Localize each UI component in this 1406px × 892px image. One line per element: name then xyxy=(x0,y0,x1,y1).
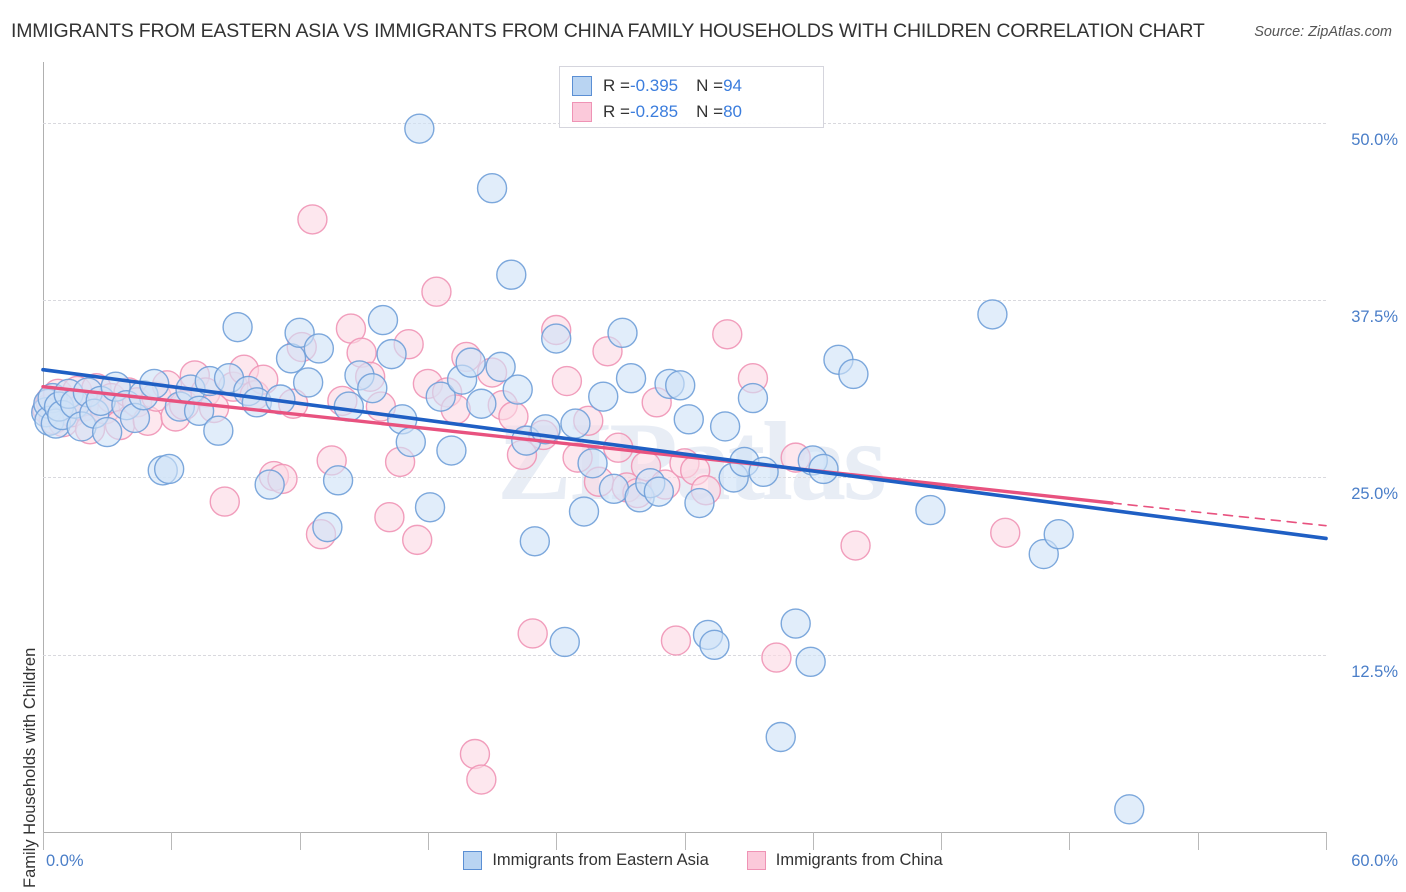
data-point-eastern-asia xyxy=(48,401,77,430)
data-point-eastern-asia xyxy=(512,426,541,455)
data-point-china xyxy=(452,342,481,371)
r-label-blue: R = xyxy=(603,76,630,96)
data-point-eastern-asia xyxy=(608,318,637,347)
data-point-eastern-asia xyxy=(204,416,233,445)
trend-line-china-extrapolated xyxy=(1112,503,1326,526)
data-point-eastern-asia xyxy=(195,367,224,396)
data-point-china xyxy=(632,452,661,481)
data-point-eastern-asia xyxy=(437,436,466,465)
y-tick-label: 12.5% xyxy=(1351,663,1398,682)
scatter-plot-canvas xyxy=(0,0,1406,892)
trend-line-china xyxy=(43,387,1112,503)
data-point-eastern-asia xyxy=(388,405,417,434)
y-tick-label: 50.0% xyxy=(1351,131,1398,150)
data-point-eastern-asia xyxy=(617,364,646,393)
data-point-china xyxy=(563,443,592,472)
data-point-eastern-asia xyxy=(916,496,945,525)
series-swatch-eastern-asia xyxy=(463,851,482,870)
x-tick xyxy=(1326,832,1327,850)
data-point-eastern-asia xyxy=(655,369,684,398)
data-point-china xyxy=(403,525,432,554)
data-point-china xyxy=(52,389,81,418)
data-point-eastern-asia xyxy=(396,428,425,457)
data-point-china xyxy=(200,394,229,423)
data-point-eastern-asia xyxy=(32,398,61,427)
data-point-eastern-asia xyxy=(223,313,252,342)
data-point-eastern-asia xyxy=(625,483,654,512)
data-point-china xyxy=(97,384,126,413)
r-value-pink: -0.285 xyxy=(630,102,678,122)
data-point-eastern-asia xyxy=(711,412,740,441)
n-label-blue: N = xyxy=(696,76,723,96)
data-point-china xyxy=(33,395,62,424)
data-point-china xyxy=(240,381,269,410)
gridline xyxy=(43,655,1326,656)
y-tick-label: 37.5% xyxy=(1351,308,1398,327)
data-point-eastern-asia xyxy=(45,392,74,421)
data-point-china xyxy=(422,277,451,306)
page-title: IMMIGRANTS FROM EASTERN ASIA VS IMMIGRAN… xyxy=(11,20,1205,43)
data-point-eastern-asia xyxy=(694,620,723,649)
source-label: Source: ZipAtlas.com xyxy=(1254,24,1392,40)
data-point-eastern-asia xyxy=(730,447,759,476)
data-point-china xyxy=(268,464,297,493)
data-point-china xyxy=(49,408,78,437)
data-point-china xyxy=(738,364,767,393)
x-tick xyxy=(813,832,814,850)
data-point-china xyxy=(76,415,105,444)
data-point-eastern-asia xyxy=(140,369,169,398)
data-point-china xyxy=(661,626,690,655)
r-value-blue: -0.395 xyxy=(630,76,678,96)
data-point-eastern-asia xyxy=(599,474,628,503)
data-point-china xyxy=(306,520,335,549)
data-point-china xyxy=(259,462,288,491)
x-tick xyxy=(685,832,686,850)
data-point-china xyxy=(153,371,182,400)
data-point-china xyxy=(991,518,1020,547)
data-point-eastern-asia xyxy=(368,306,397,335)
data-point-eastern-asia xyxy=(589,382,618,411)
data-point-china xyxy=(161,402,190,431)
watermark: ZIPatlas xyxy=(497,398,884,527)
data-point-eastern-asia xyxy=(285,318,314,347)
data-point-china xyxy=(552,367,581,396)
data-point-eastern-asia xyxy=(497,260,526,289)
data-point-china xyxy=(191,378,220,407)
data-point-eastern-asia xyxy=(685,489,714,518)
correlation-legend-row: R = -0.395 N = 94 xyxy=(572,73,811,99)
data-point-eastern-asia xyxy=(1115,795,1144,824)
data-point-china xyxy=(356,362,385,391)
data-point-eastern-asia xyxy=(520,527,549,556)
data-point-eastern-asia xyxy=(809,454,838,483)
data-point-eastern-asia xyxy=(839,359,868,388)
data-point-eastern-asia xyxy=(377,340,406,369)
data-point-eastern-asia xyxy=(542,324,571,353)
data-point-eastern-asia xyxy=(54,379,83,408)
series-legend-item-eastern-asia[interactable]: Immigrants from Eastern Asia xyxy=(463,851,708,870)
data-point-china xyxy=(433,378,462,407)
data-point-china xyxy=(542,316,571,345)
data-point-china xyxy=(781,443,810,472)
data-point-eastern-asia xyxy=(467,389,496,418)
trend-line-eastern-asia xyxy=(43,370,1326,539)
data-point-eastern-asia xyxy=(569,497,598,526)
data-point-china xyxy=(133,406,162,435)
x-tick xyxy=(171,832,172,850)
data-point-china xyxy=(249,365,278,394)
data-point-china xyxy=(170,391,199,420)
data-point-eastern-asia xyxy=(345,361,374,390)
data-point-eastern-asia xyxy=(313,513,342,542)
data-point-eastern-asia xyxy=(61,389,90,418)
data-point-eastern-asia xyxy=(578,449,607,478)
data-point-china xyxy=(681,456,710,485)
data-point-china xyxy=(762,643,791,672)
data-point-china xyxy=(529,420,558,449)
x-tick xyxy=(428,832,429,850)
data-point-eastern-asia xyxy=(86,386,115,415)
data-point-eastern-asia xyxy=(34,389,63,418)
data-point-eastern-asia xyxy=(176,375,205,404)
data-point-eastern-asia xyxy=(155,454,184,483)
data-point-eastern-asia xyxy=(358,374,387,403)
data-point-eastern-asia xyxy=(67,412,96,441)
data-point-eastern-asia xyxy=(486,352,515,381)
data-point-eastern-asia xyxy=(255,470,284,499)
data-point-china xyxy=(69,392,98,421)
gridline xyxy=(43,477,1326,478)
data-point-eastern-asia xyxy=(824,345,853,374)
data-point-eastern-asia xyxy=(448,365,477,394)
data-point-eastern-asia xyxy=(405,114,434,143)
data-point-china xyxy=(488,391,517,420)
data-point-china xyxy=(180,361,209,390)
data-point-china xyxy=(279,389,308,418)
data-point-eastern-asia xyxy=(503,375,532,404)
series-swatch-china xyxy=(747,851,766,870)
series-label-china: Immigrants from China xyxy=(776,851,943,870)
data-point-eastern-asia xyxy=(129,381,158,410)
data-point-china xyxy=(105,411,134,440)
data-point-eastern-asia xyxy=(550,627,579,656)
data-point-eastern-asia xyxy=(644,477,673,506)
data-point-china xyxy=(593,337,622,366)
data-point-eastern-asia xyxy=(334,392,363,421)
gridline xyxy=(43,300,1326,301)
data-point-eastern-asia xyxy=(165,392,194,421)
data-point-china xyxy=(91,395,120,424)
r-label-pink: R = xyxy=(603,102,630,122)
data-point-china xyxy=(63,376,92,405)
x-tick xyxy=(556,832,557,850)
data-point-china xyxy=(691,476,720,505)
data-point-china xyxy=(114,378,143,407)
data-point-china xyxy=(230,355,259,384)
data-point-china xyxy=(604,433,633,462)
legend-swatch-china xyxy=(572,102,592,122)
data-point-china xyxy=(518,619,547,648)
data-point-china xyxy=(478,358,507,387)
data-point-eastern-asia xyxy=(101,372,130,401)
x-tick xyxy=(1069,832,1070,850)
data-point-eastern-asia xyxy=(416,493,445,522)
data-point-china xyxy=(142,382,171,411)
x-tick xyxy=(300,832,301,850)
data-point-eastern-asia xyxy=(798,446,827,475)
data-point-eastern-asia xyxy=(456,348,485,377)
legend-swatch-eastern-asia xyxy=(572,76,592,96)
data-point-eastern-asia xyxy=(294,368,323,397)
data-point-eastern-asia xyxy=(766,722,795,751)
data-point-china xyxy=(123,388,152,417)
data-point-china xyxy=(375,503,404,532)
data-point-eastern-asia xyxy=(781,609,810,638)
correlation-legend-row: R = -0.285 N = 80 xyxy=(572,99,811,125)
data-point-china xyxy=(670,449,699,478)
data-point-china xyxy=(713,320,742,349)
correlation-legend: R = -0.395 N = 94 R = -0.285 N = 80 xyxy=(559,66,824,128)
data-point-china xyxy=(623,479,652,508)
data-point-china xyxy=(336,314,365,343)
y-axis-line xyxy=(43,62,44,832)
data-point-china xyxy=(287,333,316,362)
data-point-eastern-asia xyxy=(561,409,590,438)
n-value-blue: 94 xyxy=(723,76,742,96)
data-point-eastern-asia xyxy=(73,378,102,407)
data-point-eastern-asia xyxy=(636,469,665,498)
data-point-eastern-asia xyxy=(148,456,177,485)
data-point-china xyxy=(210,487,239,516)
data-point-eastern-asia xyxy=(112,391,141,420)
data-point-eastern-asia xyxy=(324,466,353,495)
data-point-china xyxy=(651,470,680,499)
x-tick xyxy=(43,832,44,850)
data-point-china xyxy=(219,372,248,401)
data-point-eastern-asia xyxy=(93,418,122,447)
data-point-eastern-asia xyxy=(234,376,263,405)
x-tick xyxy=(941,832,942,850)
data-point-eastern-asia xyxy=(1029,540,1058,569)
data-point-china xyxy=(460,740,489,769)
data-point-china xyxy=(584,467,613,496)
data-point-china xyxy=(298,205,327,234)
data-point-eastern-asia xyxy=(796,647,825,676)
data-point-eastern-asia xyxy=(185,396,214,425)
data-point-eastern-asia xyxy=(749,457,778,486)
data-point-eastern-asia xyxy=(304,334,333,363)
data-point-china xyxy=(328,386,357,415)
n-label-pink: N = xyxy=(696,102,723,122)
data-point-china xyxy=(841,531,870,560)
data-point-eastern-asia xyxy=(41,409,70,438)
data-point-china xyxy=(57,398,86,427)
data-point-eastern-asia xyxy=(426,382,455,411)
y-tick-label: 25.0% xyxy=(1351,485,1398,504)
data-point-eastern-asia xyxy=(266,385,295,414)
data-point-eastern-asia xyxy=(215,364,244,393)
data-point-china xyxy=(366,392,395,421)
data-point-china xyxy=(43,379,72,408)
x-tick xyxy=(1198,832,1199,850)
data-point-china xyxy=(36,386,65,415)
data-point-china xyxy=(82,374,111,403)
data-point-china xyxy=(394,330,423,359)
data-point-eastern-asia xyxy=(738,384,767,413)
data-point-eastern-asia xyxy=(277,344,306,373)
data-point-china xyxy=(467,765,496,794)
n-value-pink: 80 xyxy=(723,102,742,122)
series-legend: Immigrants from Eastern Asia Immigrants … xyxy=(0,851,1406,870)
series-label-eastern-asia: Immigrants from Eastern Asia xyxy=(492,851,708,870)
data-point-eastern-asia xyxy=(978,300,1007,329)
data-point-eastern-asia xyxy=(35,406,64,435)
data-point-china xyxy=(507,440,536,469)
data-point-china xyxy=(499,402,528,431)
data-point-china xyxy=(441,395,470,424)
data-point-china xyxy=(642,388,671,417)
data-point-eastern-asia xyxy=(80,399,109,428)
data-point-eastern-asia xyxy=(1044,520,1073,549)
data-point-eastern-asia xyxy=(120,403,149,432)
data-point-china xyxy=(317,446,346,475)
data-point-eastern-asia xyxy=(478,174,507,203)
data-point-china xyxy=(347,338,376,367)
data-point-eastern-asia xyxy=(531,415,560,444)
data-point-china xyxy=(413,369,442,398)
data-point-eastern-asia xyxy=(674,405,703,434)
series-legend-item-china[interactable]: Immigrants from China xyxy=(747,851,943,870)
data-point-eastern-asia xyxy=(666,371,695,400)
data-point-china xyxy=(386,447,415,476)
data-point-china xyxy=(574,406,603,435)
data-point-eastern-asia xyxy=(242,388,271,417)
